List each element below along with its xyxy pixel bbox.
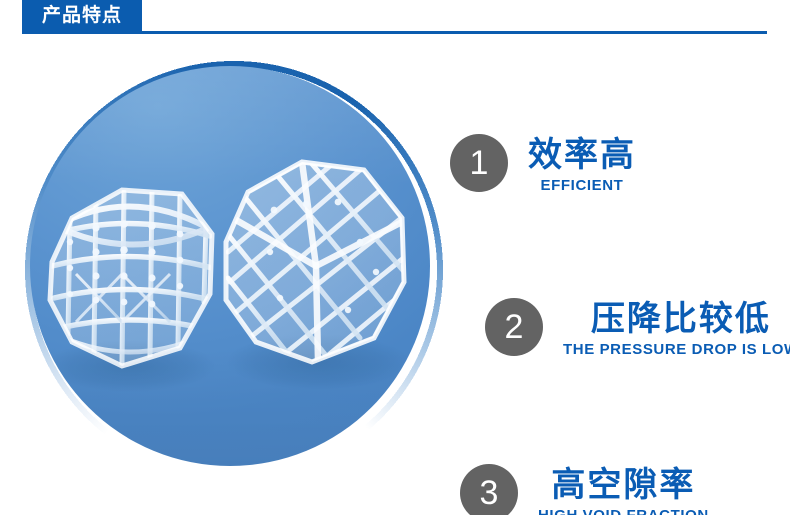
feature-number-badge-1: 1 <box>450 134 508 192</box>
feature-subtitle-2: THE PRESSURE DROP IS LOW <box>563 341 790 359</box>
feature-number-badge-2: 2 <box>485 298 543 356</box>
section-header: 产品特点 <box>0 0 790 46</box>
feature-number-2: 2 <box>505 310 524 344</box>
feature-number-1: 1 <box>470 146 489 180</box>
packing-ball-left <box>50 190 212 366</box>
feature-title-2: 压降比较低 <box>591 300 771 338</box>
feature-text-1: 效率高 EFFICIENT <box>528 134 636 195</box>
feature-subtitle-3: HIGH VOID FRACTION <box>538 507 709 515</box>
product-photo-circle <box>30 66 430 466</box>
feature-title-1: 效率高 <box>528 136 636 174</box>
feature-item-3: 3 高空隙率 HIGH VOID FRACTION <box>460 464 709 515</box>
product-features-banner: 产品特点 <box>0 0 790 515</box>
packing-ball-right <box>226 162 406 362</box>
section-title-badge: 产品特点 <box>22 0 142 31</box>
feature-text-3: 高空隙率 HIGH VOID FRACTION <box>538 464 709 515</box>
feature-number-3: 3 <box>480 476 499 510</box>
feature-item-1: 1 效率高 EFFICIENT <box>450 134 636 195</box>
feature-item-2: 2 压降比较低 THE PRESSURE DROP IS LOW <box>485 298 790 359</box>
section-title-label: 产品特点 <box>42 6 122 25</box>
product-photo-block <box>0 46 452 515</box>
header-divider-rule <box>22 31 767 34</box>
feature-text-2: 压降比较低 THE PRESSURE DROP IS LOW <box>563 298 790 359</box>
feature-number-badge-3: 3 <box>460 464 518 515</box>
packing-balls-illustration <box>30 66 430 466</box>
feature-subtitle-1: EFFICIENT <box>541 177 624 195</box>
feature-title-3: 高空隙率 <box>551 466 695 504</box>
